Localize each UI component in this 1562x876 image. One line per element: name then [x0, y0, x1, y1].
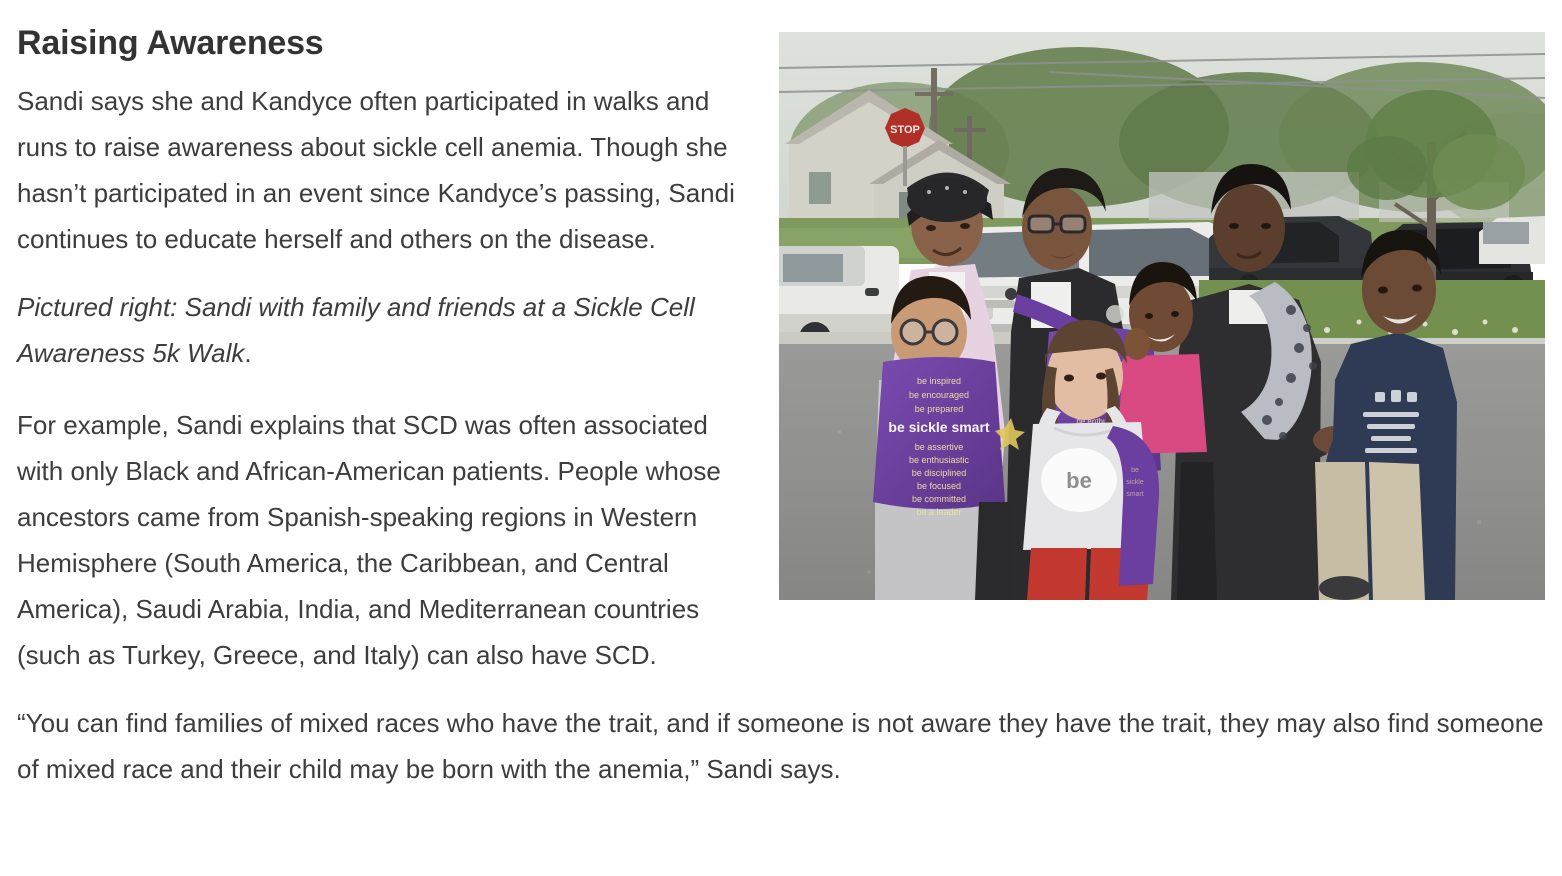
svg-text:be encouraged: be encouraged — [909, 390, 969, 400]
svg-text:be assertive: be assertive — [915, 442, 964, 452]
svg-text:be enthusiastic: be enthusiastic — [909, 455, 970, 465]
article-photo-figure: STOP — [779, 32, 1545, 600]
svg-text:STOP: STOP — [890, 124, 920, 136]
red-leggings-left — [1027, 548, 1087, 600]
svg-text:be prepared: be prepared — [915, 404, 964, 414]
svg-text:be committed: be committed — [912, 494, 966, 504]
svg-text:be a leader: be a leader — [916, 507, 961, 517]
photo-caption-text: Pictured right: Sandi with family and fr… — [17, 292, 695, 368]
svg-text:sickle: sickle — [1126, 479, 1144, 486]
svg-text:be disciplined: be disciplined — [912, 468, 967, 478]
hand — [1124, 328, 1150, 360]
article-body: STOP — [0, 22, 1562, 814]
be-shirt-logo: be — [1041, 448, 1117, 512]
far-white-car — [1479, 216, 1545, 264]
svg-text:be: be — [1066, 468, 1092, 493]
svg-text:smart: smart — [1126, 491, 1144, 498]
paragraph-quote: “You can find families of mixed races wh… — [17, 700, 1545, 792]
svg-text:be: be — [1131, 467, 1139, 474]
svg-text:be inspired: be inspired — [917, 376, 961, 386]
svg-text:be focused: be focused — [917, 481, 961, 491]
svg-text:be sickle smart: be sickle smart — [888, 419, 990, 435]
photo-group-at-5k-walk: STOP — [779, 32, 1545, 600]
photo-caption-tail: . — [244, 338, 251, 368]
article-page: STOP — [0, 22, 1562, 876]
